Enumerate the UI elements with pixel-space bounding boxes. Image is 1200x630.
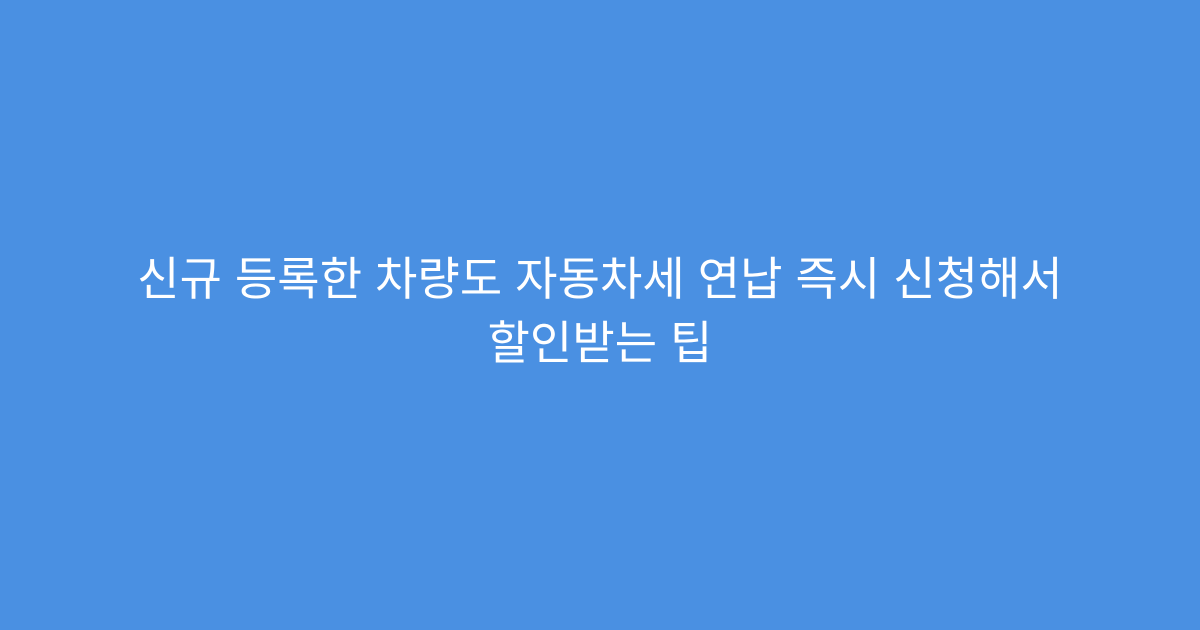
page-title: 신규 등록한 차량도 자동차세 연납 즉시 신청해서 할인받는 팁 bbox=[74, 247, 1126, 375]
share-card: 신규 등록한 차량도 자동차세 연납 즉시 신청해서 할인받는 팁 bbox=[0, 0, 1200, 630]
